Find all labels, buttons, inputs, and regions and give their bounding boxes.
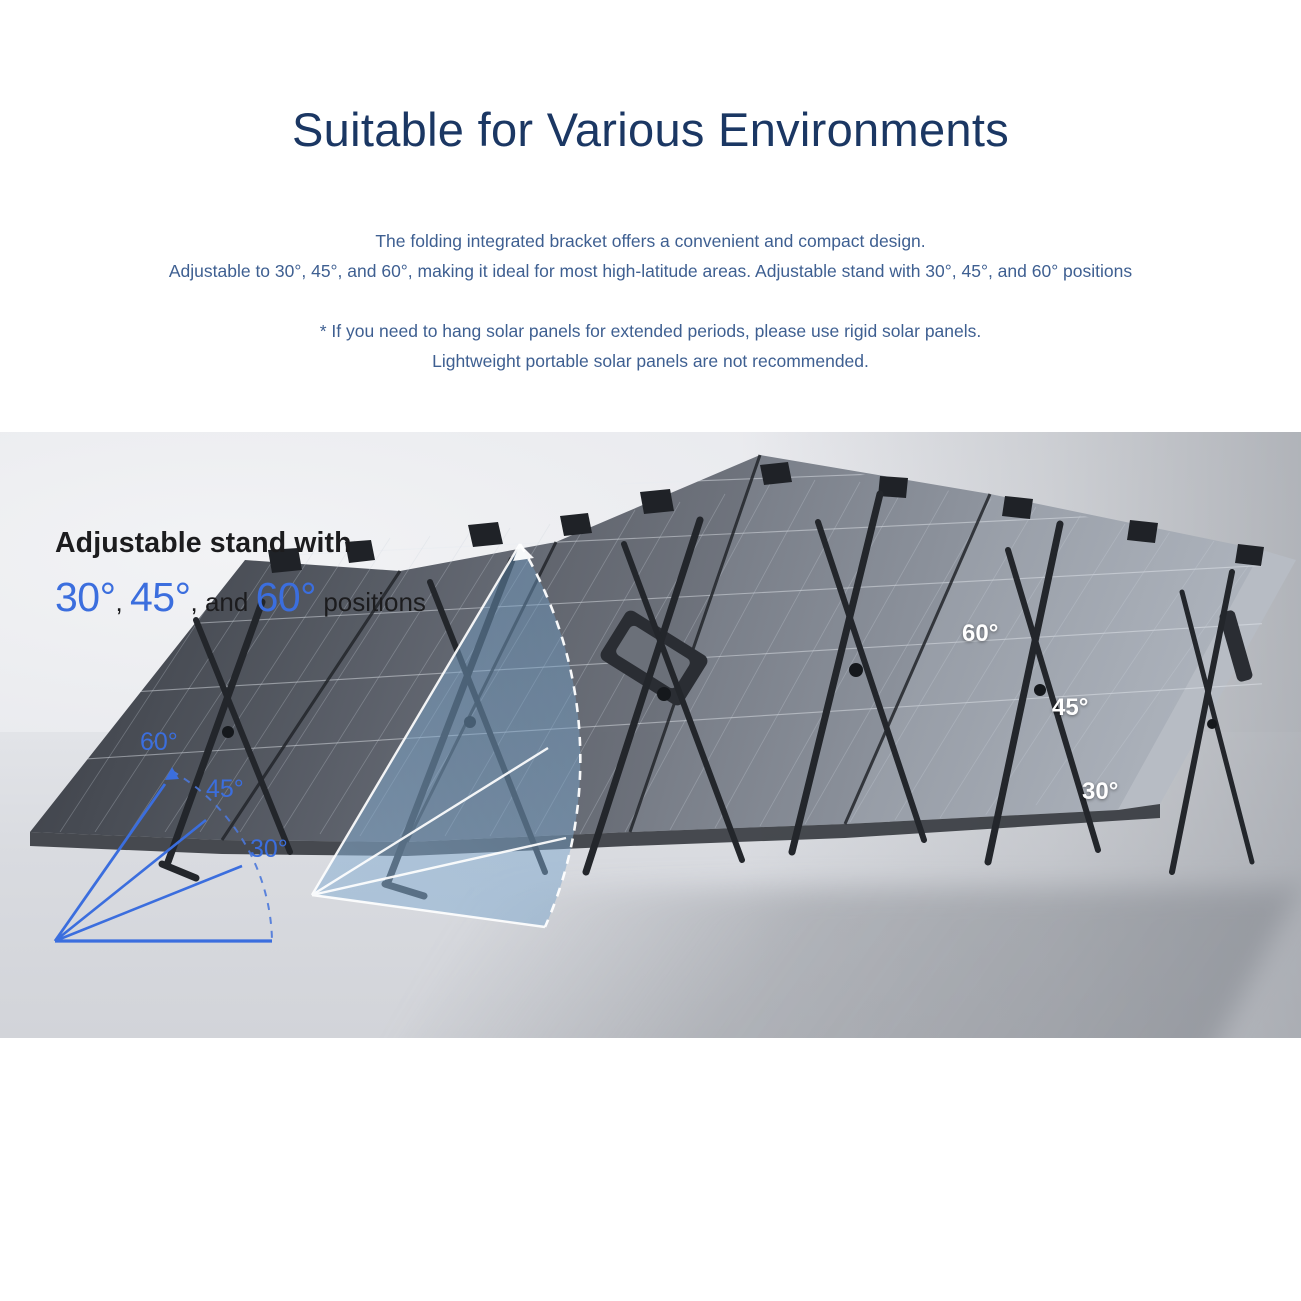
intro-line-1: The folding integrated bracket offers a … (0, 226, 1301, 256)
note-line-1: * If you need to hang solar panels for e… (0, 316, 1301, 346)
diagram-ray-45 (55, 820, 206, 941)
page-title: Suitable for Various Environments (0, 104, 1301, 156)
overlay-angle-60: 60° (256, 574, 317, 620)
overlay-angle-45: 45° (130, 574, 191, 620)
overlay-sep-2: , and (191, 587, 249, 617)
angle-diagram-svg (20, 707, 350, 977)
overlay-headline: Adjustable stand with (55, 527, 426, 560)
hero-section: 60° 45° 30° Adjustable stand with 30°, 4… (0, 432, 1301, 1038)
photo-angle-label-30: 30° (1082, 778, 1118, 806)
diagram-ray-30 (55, 866, 242, 941)
intro-paragraph: The folding integrated bracket offers a … (0, 226, 1301, 286)
intro-line-2: Adjustable to 30°, 45°, and 60°, making … (0, 256, 1301, 286)
overlay-angle-30: 30° (55, 574, 116, 620)
diagram-label-60: 60° (140, 728, 178, 757)
note-paragraph: * If you need to hang solar panels for e… (0, 316, 1301, 376)
overlay-angles-line: 30°, 45°, and 60° positions (55, 574, 426, 621)
diagram-label-30: 30° (250, 835, 288, 864)
angle-diagram: 60° 45° 30° (20, 707, 350, 977)
overlay-sep-1: , (116, 587, 123, 617)
photo-angle-label-60: 60° (962, 620, 998, 648)
header-section: Suitable for Various Environments The fo… (0, 0, 1301, 376)
note-line-2: Lightweight portable solar panels are no… (0, 346, 1301, 376)
photo-angle-label-45: 45° (1052, 694, 1088, 722)
diagram-label-45: 45° (206, 775, 244, 804)
overlay-tail: positions (323, 587, 426, 617)
diagram-ray-60 (55, 784, 165, 941)
overlay-headline-block: Adjustable stand with 30°, 45°, and 60° … (55, 527, 426, 621)
